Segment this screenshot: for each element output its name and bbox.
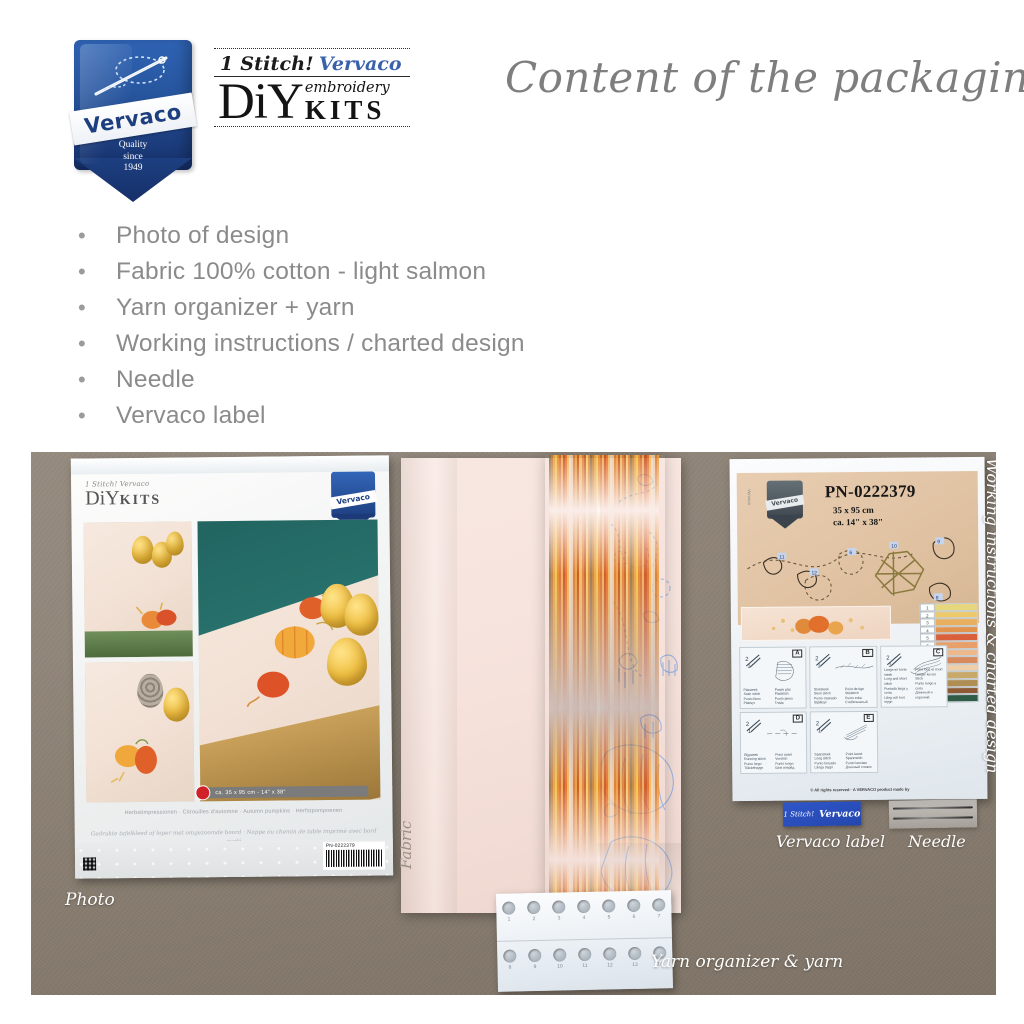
stitch-caption-column: Point lancé Spannstich Punto lanciato Дл… [846,751,874,770]
organizer-hole-number: 4 [583,915,586,921]
vervaco-shield-logo: Vervaco Quality since 1949 [74,40,192,192]
stitch-caption: Platsteek Satin stitch Punto llano Platt… [744,687,803,706]
organizer-hole: 13 [622,947,647,969]
quality-line-3: 1949 [74,163,192,175]
stitch-caption-column: Lange en korte steek Long and short stit… [884,668,912,705]
organizer-hole-number: 3 [558,916,561,922]
contents-list: • Photo of design • Fabric 100% cotton -… [72,218,712,434]
working-instructions-sheet: Vervaco Vervaco PN-0222379 35 x 95 cm ca… [730,457,988,801]
organizer-hole-pit [552,900,565,913]
organizer-hole-pit [553,948,566,961]
stitch-caption-column: Platsteek Satin stitch Punto llano Platt… [744,687,772,706]
organizer-hole: 9 [522,949,547,971]
package-logo: 1 Stitch! Vervaco DiYKITS [85,479,205,516]
caption-needle: Needle [908,832,966,851]
organizer-hole-pit [527,901,540,914]
organizer-hole: 12 [597,947,622,969]
list-item-label: Fabric 100% cotton - light salmon [116,254,486,290]
organizer-hole: 5 [596,899,621,921]
preview-pumpkins-icon [742,607,890,640]
organizer-hole: 11 [572,948,597,970]
stitch-caption-column: Point avant Vorstich Punto lungo Шов впе… [775,752,803,771]
organizer-hole-number: 2 [533,916,536,922]
organizer-hole-pit [603,947,616,960]
caption-yarn-organizer: Yarn organizer & yarn [651,952,843,972]
package-logo-kits-text: KITS [120,493,162,508]
package-barcode-pn: PN-0222379 [326,843,382,849]
page-header: Vervaco Quality since 1949 1 Stitch! Ver… [0,0,1024,200]
list-item-label: Yarn organizer + yarn [116,290,355,326]
bullet-icon: • [72,326,116,362]
package-barcode: PN-0222379 [323,841,385,870]
organizer-fold-line [497,937,672,942]
organizer-hole: 4 [571,900,596,922]
instructions-vervaco-shield: Vervaco [767,480,803,528]
wordmark-stitch-text: 1 Stitch! [220,53,314,75]
stitch-caption: Lange en korte steek Long and short stit… [884,668,944,705]
stitch-illustration [761,716,807,746]
organizer-hole-pit [578,948,591,961]
stitch-caption-column: Stoksteek Stem stitch Punto caseado Stjä… [814,687,842,706]
yarn-organizer-card: 1234567 891011121314 [496,890,673,992]
collage-photo-main [197,519,380,801]
stitch-caption-column: Spansteek Long stitch Punto lanzado Lång… [814,752,842,771]
svg-text:2: 2 [816,721,820,727]
package-code-square [83,857,96,870]
svg-text:2: 2 [746,722,750,728]
organizer-hole: 10 [547,948,572,970]
list-item: • Yarn organizer + yarn [72,290,712,326]
kit-contents-photo: 1 Stitch! Vervaco DiYKITS Vervaco [31,452,996,995]
organizer-hole-number: 1 [508,917,511,923]
yarn-bundle [549,455,659,915]
instructions-copyright: © All rights reserved · A VERVACO produc… [732,786,987,793]
organizer-hole-pit [627,899,640,912]
bullet-icon: • [72,254,116,290]
organizer-hole: 3 [546,900,571,922]
svg-text:6: 6 [849,550,852,556]
stitch-diagram-grid: 12APlatsteek Satin stitch Punto llano Pl… [739,645,948,774]
instructions-design-preview [741,606,891,641]
package-size-strip: ca. 35 x 95 cm - 14" x 38" [200,786,368,799]
wordmark-vervaco-text: Vervaco [319,53,402,75]
svg-text:10: 10 [891,544,897,550]
stitch-caption-column: Point long et court Langer kurzer Stich … [915,668,943,705]
organizer-row-bottom: 891011121314 [497,946,672,971]
organizer-hole-number: 13 [632,962,638,968]
fabric-caption: Fabric [397,821,415,869]
caption-vervaco-label: Vervaco label [776,832,885,851]
legend-number: 4 [920,626,935,634]
barcode-bars [326,849,382,867]
legend-number: 5 [920,634,935,642]
organizer-hole: 6 [621,899,646,921]
svg-text:2: 2 [745,657,749,663]
organizer-hole-pit [502,901,515,914]
yarn-strand [657,455,659,915]
legend-number: 3 [920,619,935,627]
instructions-chart-panel: Vervaco Vervaco PN-0222379 35 x 95 cm ca… [737,471,979,625]
page-title: Content of the packaging [505,47,975,109]
organizer-hole-number: 12 [607,962,613,968]
stitch-caption: Rijgsteek Running stitch Punto largo Trå… [744,752,803,771]
svg-text:2: 2 [816,656,820,662]
instructions-product-number: PN-0222379 [825,481,916,502]
stitch-diagram-a: 12APlatsteek Satin stitch Punto llano Pl… [739,646,807,709]
needle-packet [889,799,977,829]
list-item-label: Working instructions / charted design [116,326,525,362]
svg-text:8: 8 [936,595,939,601]
svg-text:12: 12 [811,570,817,576]
bullet-icon: • [72,290,116,326]
organizer-hole-number: 10 [557,963,563,969]
wordmark-kits-text: KITS [305,97,386,124]
package-photo-collage [83,519,380,802]
bullet-icon: • [72,362,116,398]
stitch-diagram-d: 12DRijgsteek Running stitch Punto largo … [740,711,808,774]
organizer-hole-number: 6 [633,914,636,920]
organizer-hole-pit [652,898,665,911]
quality-line-1: Quality [74,140,192,152]
stitch-diagram-c: 12CLange en korte steek Long and short s… [880,645,948,708]
organizer-hole-pit [602,899,615,912]
caption-working-instructions: Working instructions & charted design [983,458,996,773]
collage-photo-top-left [83,521,192,657]
instructions-size-cm: 35 x 95 cm [833,504,883,516]
organizer-hole: 2 [521,901,546,923]
legend-number: 2 [920,611,935,619]
svg-text:11: 11 [779,555,784,561]
instructions-side-note: Vervaco [747,489,752,505]
red-dot-icon [196,786,209,799]
svg-text:2: 2 [886,656,890,662]
list-item: • Working instructions / charted design [72,326,712,362]
organizer-hole-pit [503,949,516,962]
stitch-caption-column: Point de tige Stielstich Punto erba Стеб… [845,686,873,705]
wordmark-embroidery-text: embroidery [305,80,390,96]
collage-photo-bottom-left [85,661,194,802]
caption-photo: Photo [65,890,115,910]
bullet-icon: • [72,218,116,254]
stitch-caption: Stoksteek Stem stitch Punto caseado Stjä… [814,686,873,705]
stitch-caption: Spansteek Long stitch Punto lanzado Lång… [814,751,873,770]
organizer-row-top: 1234567 [496,898,671,923]
quality-line-2: since [74,152,192,164]
pumpkin-motif-icon [134,599,190,634]
needle-and-thread-icon [92,50,176,102]
stitch-diagram-b: 12BStoksteek Stem stitch Punto caseado S… [809,646,877,709]
organizer-hole-pit [577,900,590,913]
photo-of-design-package: 1 Stitch! Vervaco DiYKITS Vervaco [71,455,393,878]
stitch-diagram-e: 12ESpansteek Long stitch Punto lanzado L… [810,711,878,774]
label-stitch-text: 1 Stitch! [783,810,814,819]
organizer-hole-pit [528,949,541,962]
legend-number: 1 [920,603,935,611]
package-logo-diy-text: DiY [85,487,120,509]
list-item: • Vervaco label [72,398,712,434]
vervaco-fabric-label: 1 Stitch! Vervaco [783,801,861,826]
organizer-hole: 8 [497,949,522,971]
stitch-illustration [831,651,877,681]
organizer-hole-number: 7 [658,913,661,919]
list-item: • Needle [72,362,712,398]
svg-text:9: 9 [937,539,940,545]
list-item: • Photo of design [72,218,712,254]
organizer-hole: 1 [496,901,521,923]
organizer-hole-number: 11 [582,963,587,969]
stitch-illustration [831,716,877,746]
list-item-label: Vervaco label [116,398,266,434]
pumpkin-motif-icon [106,734,177,785]
organizer-hole-number: 9 [534,964,537,970]
package-size-text: ca. 35 x 95 cm - 14" x 38" [215,789,285,796]
organizer-hole-number: 5 [608,914,611,920]
stitch-illustration [760,651,806,681]
list-item: • Fabric 100% cotton - light salmon [72,254,712,290]
label-vervaco-text: Vervaco [819,808,861,820]
organizer-hole-number: 8 [509,965,512,971]
list-item-label: Needle [116,362,195,398]
diy-kits-wordmark: 1 Stitch! Vervaco DiY embroidery KITS [214,48,410,158]
list-item-label: Photo of design [116,218,289,254]
organizer-hole-pit [628,947,641,960]
wordmark-diy-text: DiY [218,80,303,124]
shield-quality-seal: Quality since 1949 [74,140,192,175]
stitch-caption-column: Passe plat Plattstich Punto pieno Гладь [775,687,803,706]
package-subtitle: Herbstimpressionen · Citrouilles d'autom… [86,807,380,816]
organizer-hole: 7 [646,898,671,920]
stitch-caption-column: Rijgsteek Running stitch Punto largo Trå… [744,752,772,771]
bullet-icon: • [72,398,116,434]
